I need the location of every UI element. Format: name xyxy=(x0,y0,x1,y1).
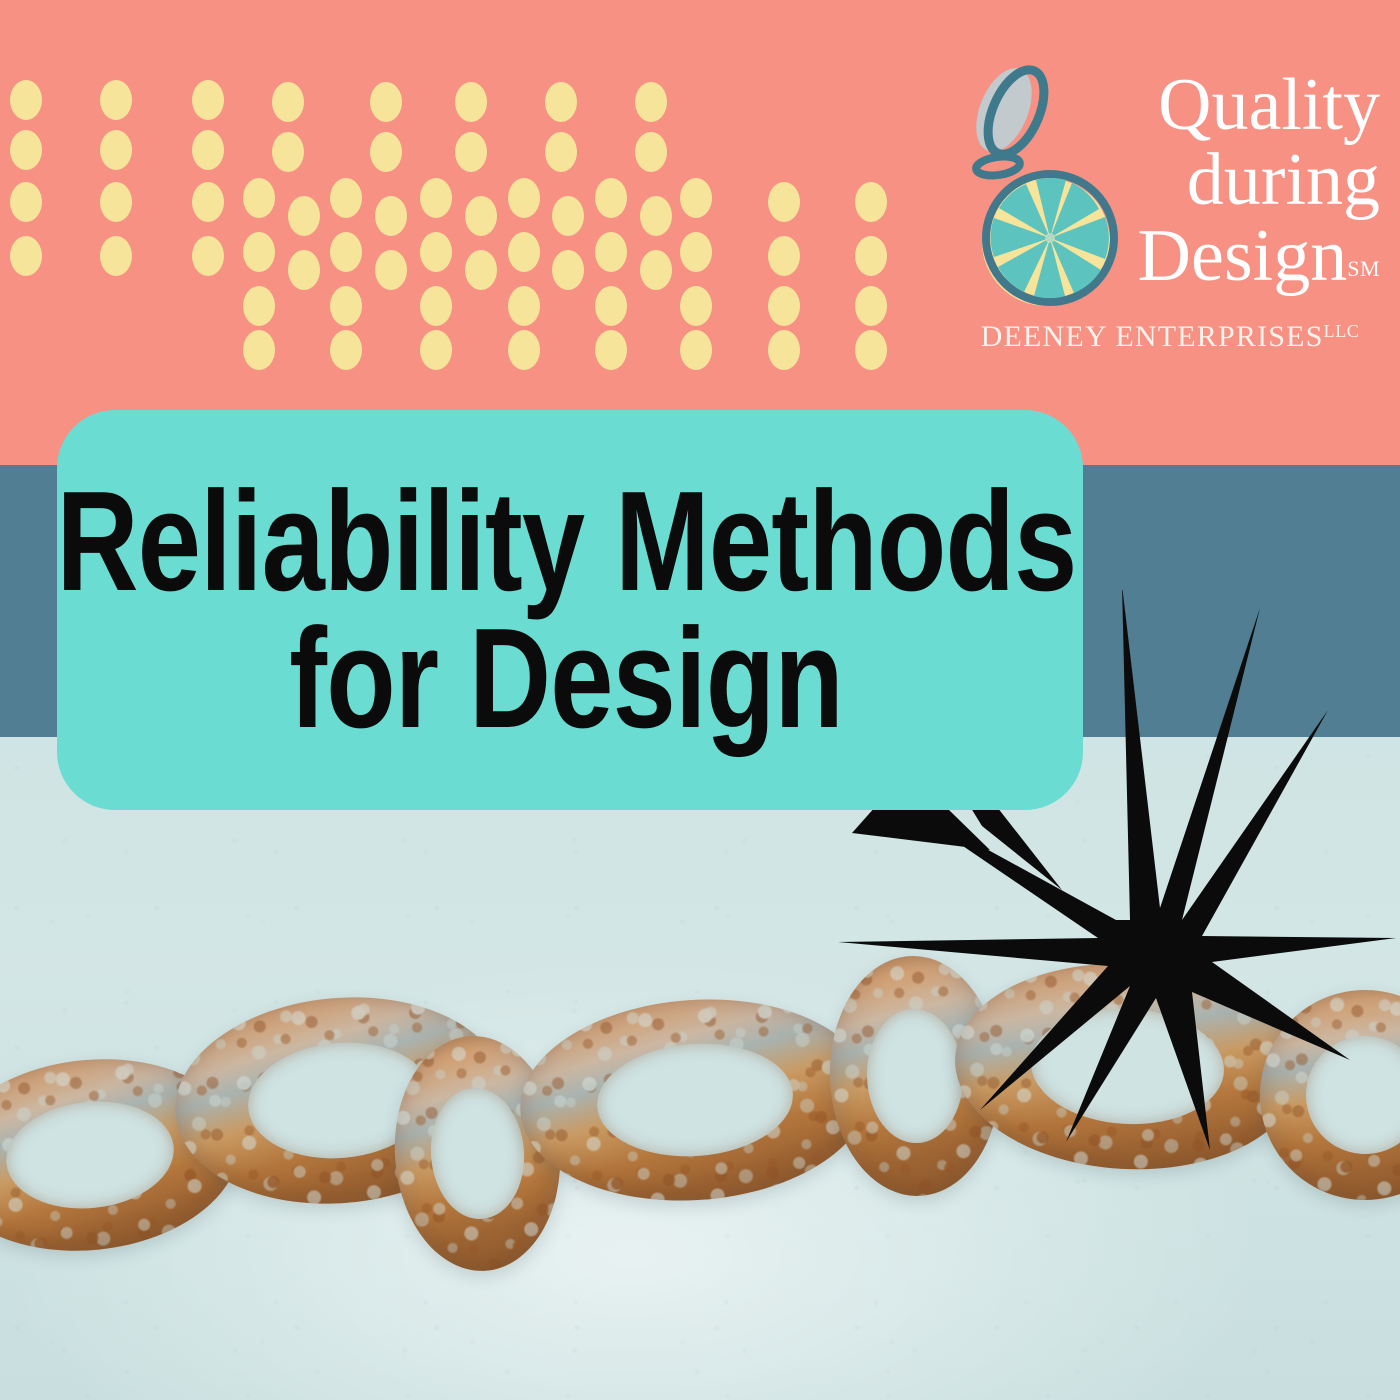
title-line-2: for Design xyxy=(289,612,843,745)
pattern-dot xyxy=(243,178,275,218)
halftone-dot-pattern xyxy=(0,0,920,340)
pattern-dot xyxy=(192,80,224,120)
brand-name-line3: DesignSM xyxy=(1060,219,1380,294)
pattern-dot xyxy=(100,80,132,120)
pattern-dot xyxy=(508,330,540,370)
pattern-dot xyxy=(768,182,800,222)
service-mark: SM xyxy=(1347,256,1380,281)
pattern-dot xyxy=(640,250,672,290)
pattern-dot xyxy=(288,250,320,290)
pattern-dot xyxy=(243,330,275,370)
brand-name: Quality during DesignSM xyxy=(1060,68,1380,294)
pattern-dot xyxy=(545,82,577,122)
pattern-dot xyxy=(375,250,407,290)
pattern-dot xyxy=(635,82,667,122)
brand-name-line2: during xyxy=(1060,143,1380,218)
company-name: DEENEY ENTERPRISESLLC xyxy=(960,320,1380,354)
pattern-dot xyxy=(192,236,224,276)
pattern-dot xyxy=(552,196,584,236)
pattern-dot xyxy=(243,286,275,326)
pattern-dot xyxy=(10,182,42,222)
company-suffix: LLC xyxy=(1324,321,1360,341)
pattern-dot xyxy=(508,178,540,218)
chain-link xyxy=(513,988,876,1212)
pattern-dot xyxy=(288,196,320,236)
pattern-dot xyxy=(10,130,42,170)
pattern-dot xyxy=(545,132,577,172)
pattern-dot xyxy=(192,130,224,170)
pattern-dot xyxy=(595,232,627,272)
pattern-dot xyxy=(595,330,627,370)
brand-logo-block: Quality during DesignSM DEENEY ENTERPRIS… xyxy=(960,58,1380,378)
pattern-dot xyxy=(370,82,402,122)
pattern-dot xyxy=(465,196,497,236)
pattern-dot xyxy=(330,178,362,218)
page-title: Reliability Methods for Design xyxy=(57,410,1083,810)
podcast-cover-art: Quality during DesignSM DEENEY ENTERPRIS… xyxy=(0,0,1400,1400)
pattern-dot xyxy=(768,286,800,326)
pattern-dot xyxy=(508,232,540,272)
pattern-dot xyxy=(10,236,42,276)
pattern-dot xyxy=(455,132,487,172)
pattern-dot xyxy=(420,232,452,272)
pattern-dot xyxy=(595,178,627,218)
pattern-dot xyxy=(508,286,540,326)
pattern-dot xyxy=(855,182,887,222)
pattern-dot xyxy=(855,286,887,326)
pattern-dot xyxy=(10,80,42,120)
pattern-dot xyxy=(855,236,887,276)
pattern-dot xyxy=(375,196,407,236)
pattern-dot xyxy=(272,132,304,172)
pattern-dot xyxy=(768,330,800,370)
pattern-dot xyxy=(680,330,712,370)
pattern-dot xyxy=(420,286,452,326)
pattern-dot xyxy=(465,250,497,290)
pattern-dot xyxy=(552,250,584,290)
pattern-dot xyxy=(680,286,712,326)
pattern-dot xyxy=(330,286,362,326)
title-plate: Reliability Methods for Design xyxy=(57,410,1083,810)
pattern-dot xyxy=(595,286,627,326)
pattern-dot xyxy=(455,82,487,122)
brand-name-line1: Quality xyxy=(1060,68,1380,143)
pattern-dot xyxy=(192,182,224,222)
rust-texture xyxy=(513,988,876,1212)
pattern-dot xyxy=(272,82,304,122)
pattern-dot xyxy=(680,178,712,218)
pattern-dot xyxy=(635,132,667,172)
pattern-dot xyxy=(420,178,452,218)
pattern-dot xyxy=(370,132,402,172)
title-line-1: Reliability Methods xyxy=(56,475,1076,608)
pattern-dot xyxy=(768,236,800,276)
pattern-dot xyxy=(243,232,275,272)
company-name-text: DEENEY ENTERPRISES xyxy=(981,320,1324,353)
pattern-dot xyxy=(420,330,452,370)
pattern-dot xyxy=(855,330,887,370)
pattern-dot xyxy=(330,232,362,272)
pattern-dot xyxy=(680,232,712,272)
pattern-dot xyxy=(100,130,132,170)
pattern-dot xyxy=(640,196,672,236)
pattern-dot xyxy=(330,330,362,370)
pattern-dot xyxy=(100,236,132,276)
pattern-dot xyxy=(100,182,132,222)
